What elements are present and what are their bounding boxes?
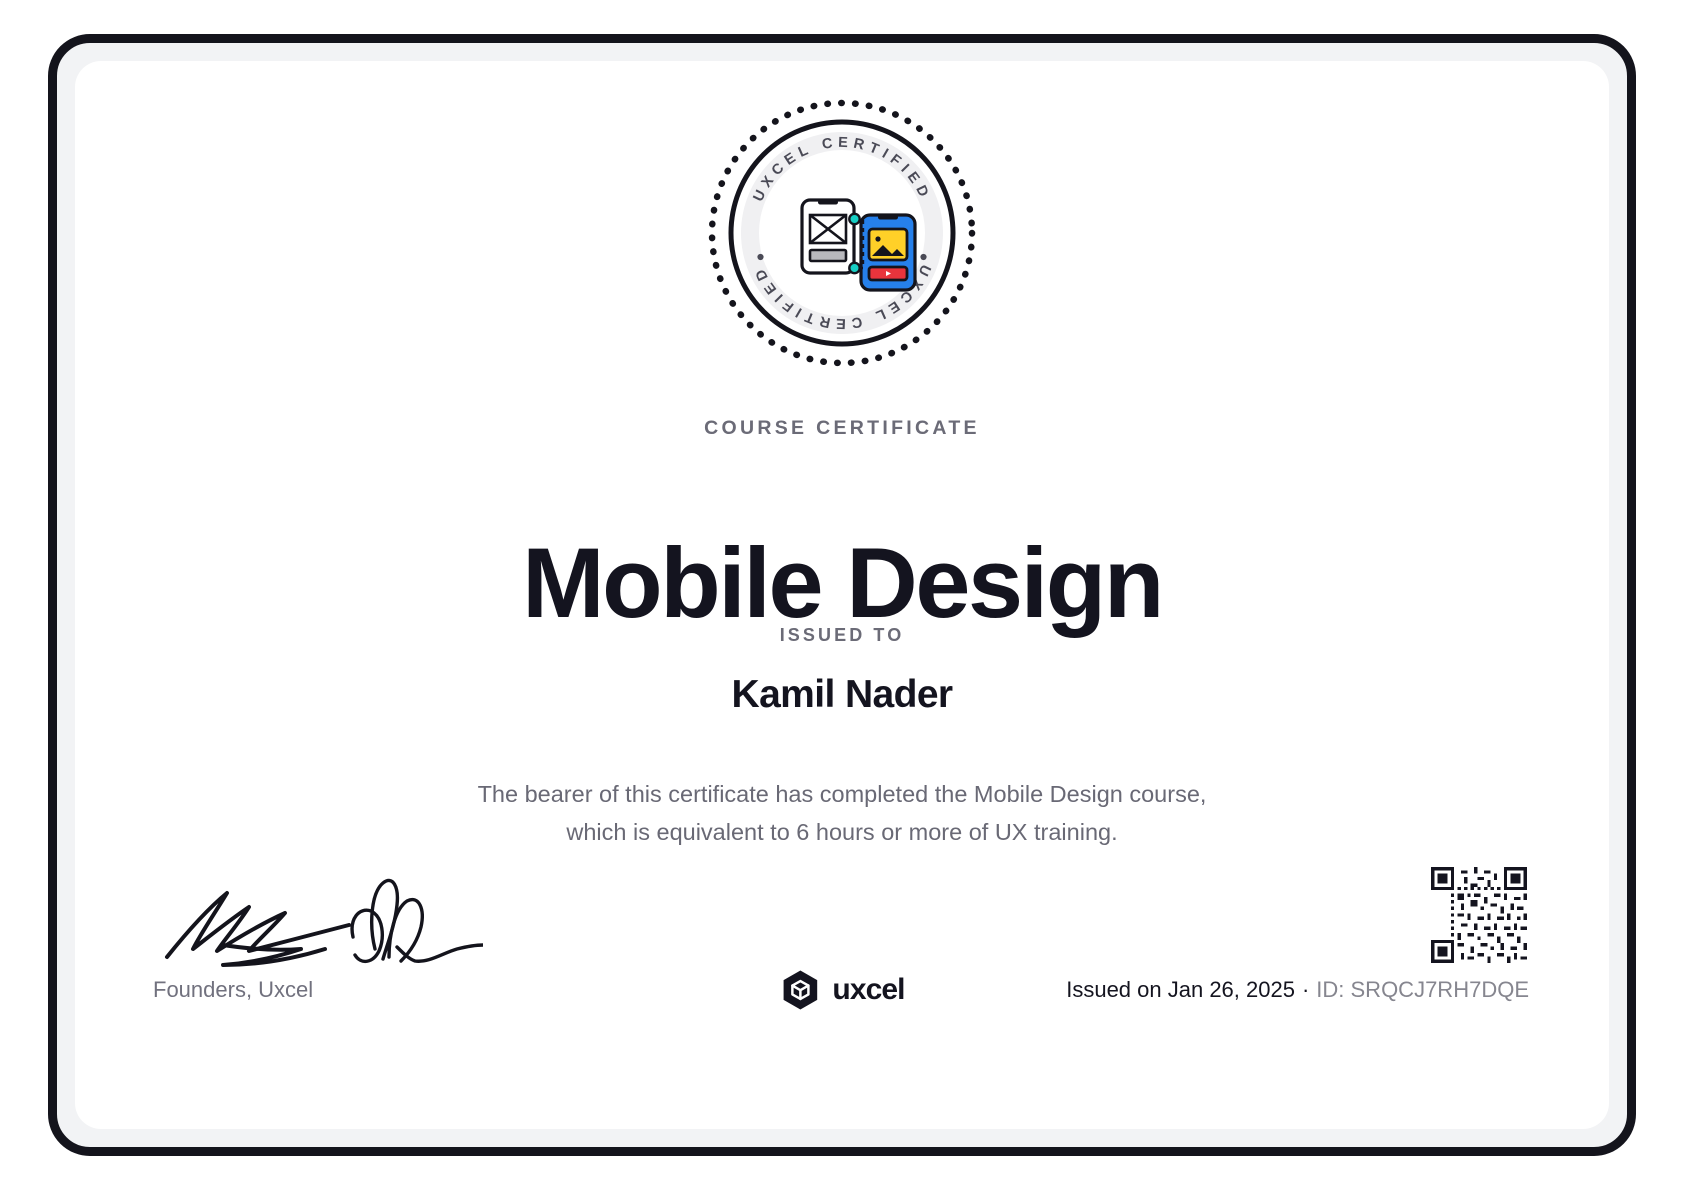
metadata-separator: ·	[1302, 977, 1309, 1002]
uxcel-wordmark: uxcel	[832, 973, 904, 1007]
uxcel-cube-logo	[779, 969, 821, 1011]
recipient-name: Kamil Nader	[75, 673, 1609, 717]
certificate-card: UXCEL CERTIFIED UXCEL CERTIFIED	[75, 61, 1609, 1129]
issued-to-eyebrow: ISSUED TO	[75, 625, 1609, 646]
issued-on-date: Issued on Jan 26, 2025	[1066, 977, 1295, 1002]
signature-one	[167, 893, 349, 965]
certification-badge: UXCEL CERTIFIED UXCEL CERTIFIED	[706, 97, 978, 369]
certificate-description: The bearer of this certificate has compl…	[412, 775, 1272, 851]
verification-qr-code[interactable]	[1431, 867, 1527, 963]
description-line-2: which is equivalent to 6 hours or more o…	[566, 819, 1117, 845]
signature-caption: Founders, Uxcel	[153, 977, 313, 1003]
issue-metadata: Issued on Jan 26, 2025·ID: SRQCJ7RH7DQE	[1066, 977, 1529, 1003]
description-line-1: The bearer of this certificate has compl…	[478, 781, 1207, 807]
founder-signatures	[153, 849, 483, 969]
certificate-frame: UXCEL CERTIFIED UXCEL CERTIFIED	[48, 34, 1636, 1156]
course-certificate-eyebrow: COURSE CERTIFICATE	[75, 417, 1609, 440]
signature-two	[352, 880, 483, 961]
uxcel-brand-logo: uxcel	[779, 969, 904, 1011]
page-title: Mobile Design	[75, 531, 1609, 635]
credential-id: ID: SRQCJ7RH7DQE	[1316, 977, 1529, 1002]
